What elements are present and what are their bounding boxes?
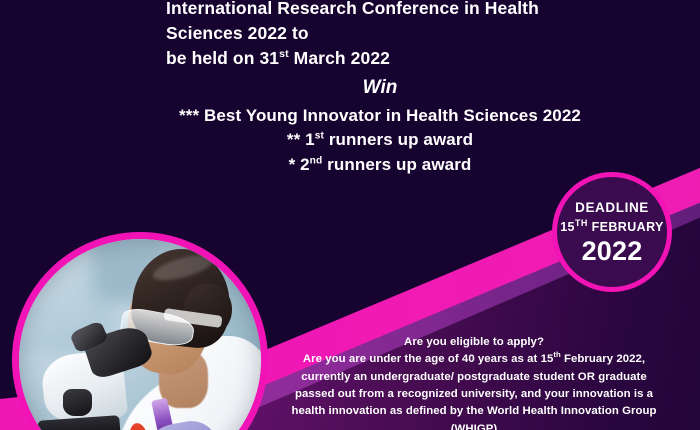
eligibility-question: Are you eligible to apply? [262, 334, 686, 351]
eligibility-line-2: currently an undergraduate/ postgraduate… [301, 371, 646, 383]
headline-ordinal-suffix: st [279, 48, 289, 60]
eligibility-ordinal-suffix: th [553, 351, 560, 360]
microscope-objective-lens [63, 389, 92, 416]
conference-award-poster: International Research Conference in Hea… [0, 0, 700, 430]
headline-line-2-pre: be held on 31 [166, 48, 279, 68]
deadline-day: 15 [560, 220, 575, 234]
award-2-post: runners up award [324, 130, 473, 149]
headline-line-1: International Research Conference in Hea… [166, 0, 539, 43]
headline-line-2-post: March 2022 [289, 48, 390, 68]
award-3-post: runners up award [322, 155, 471, 174]
award-line-first: *** Best Young Innovator in Health Scien… [100, 104, 660, 129]
award-line-second: ** 1st runners up award [100, 128, 660, 153]
award-2-pre: ** 1 [287, 130, 315, 149]
award-3-pre: * 2 [289, 155, 310, 174]
eligibility-line-5: (WHIGP) [451, 423, 498, 430]
eligibility-line-1-pre: Are you are under the age of 40 years as… [303, 353, 553, 365]
deadline-badge: DEADLINE 15TH FEBRUARY 2022 [552, 172, 672, 292]
deadline-month: FEBRUARY [588, 220, 664, 234]
deadline-year: 2022 [582, 238, 643, 265]
award-2-ordinal-suffix: st [315, 131, 324, 142]
eligibility-line-4: health innovation as defined by the Worl… [291, 405, 656, 417]
deadline-ordinal-suffix: TH [575, 217, 588, 227]
scientist-photo [19, 239, 261, 430]
deadline-date: 15TH FEBRUARY [560, 221, 664, 234]
scientist-photo-circle [12, 232, 268, 430]
award-line-third: * 2nd runners up award [100, 153, 660, 178]
award-3-ordinal-suffix: nd [310, 155, 323, 166]
win-title: Win [100, 76, 660, 100]
eligibility-line-1-post: February 2022, [561, 353, 645, 365]
deadline-label: DEADLINE [575, 201, 649, 215]
awards-block: Win *** Best Young Innovator in Health S… [100, 76, 660, 178]
eligibility-paragraph: Are you eligible to apply? Are you are u… [262, 334, 686, 430]
eligibility-line-3: passed out from a recognized university,… [295, 388, 653, 400]
conference-headline: International Research Conference in Hea… [166, 0, 586, 71]
